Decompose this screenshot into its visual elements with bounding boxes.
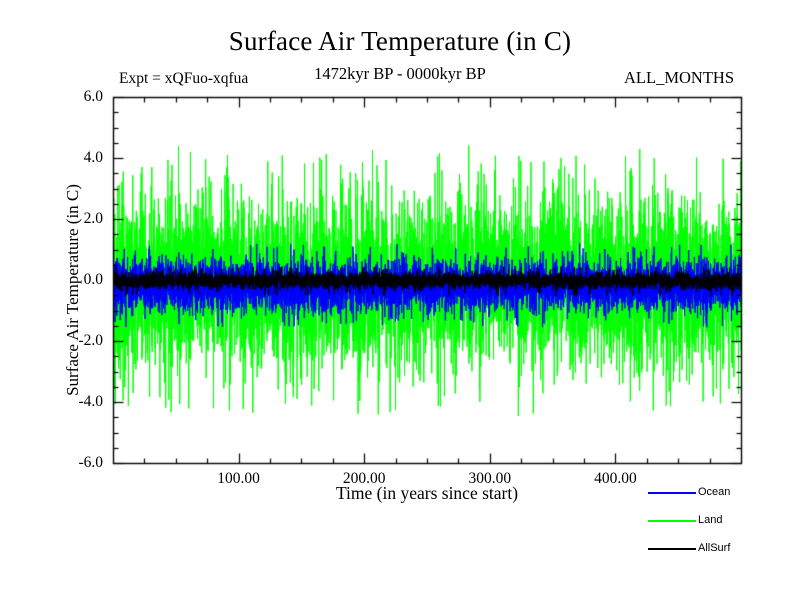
page-title: Surface Air Temperature (in C) — [0, 26, 800, 57]
legend-label: Ocean — [698, 484, 730, 500]
legend-item: AllSurf — [648, 540, 796, 568]
figure-canvas-area: Surface Air Temperature (in C) Expt = xQ… — [0, 0, 800, 600]
legend-item: Land — [648, 512, 796, 540]
legend-color-swatch — [648, 492, 696, 494]
legend-color-swatch — [648, 520, 696, 522]
legend-label: Land — [698, 512, 722, 528]
x-axis-label: Time (in years since start) — [113, 483, 741, 504]
y-axis-label: Surface Air Temperature (in C) — [63, 100, 83, 480]
legend-label: AllSurf — [698, 540, 730, 556]
legend: OceanLandAllSurf — [648, 484, 796, 568]
legend-item: Ocean — [648, 484, 796, 512]
legend-color-swatch — [648, 548, 696, 550]
months-label: ALL_MONTHS — [624, 68, 734, 88]
